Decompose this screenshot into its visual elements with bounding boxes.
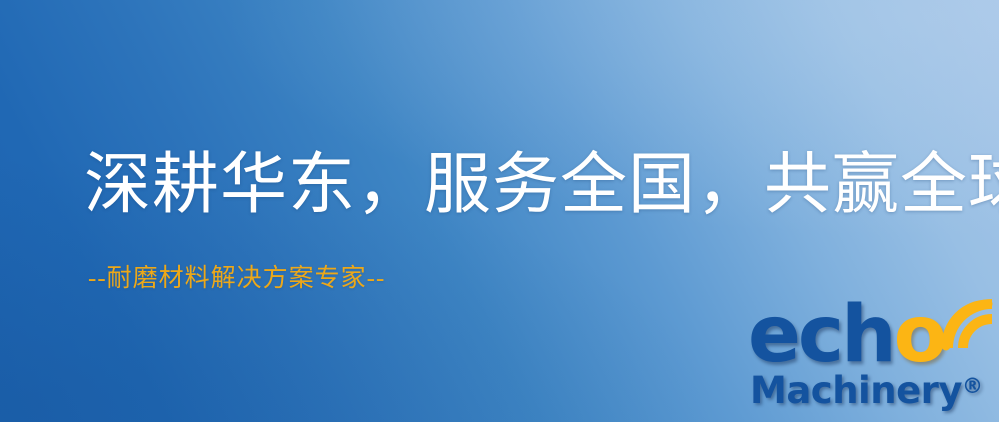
hero-banner: 深耕华东，服务全国，共赢全球 --耐磨材料解决方案专家-- echo Machi… [0,0,999,422]
registered-trademark-icon: ® [962,374,983,398]
banner-headline: 深耕华东，服务全国，共赢全球 [84,152,999,219]
banner-subtitle: --耐磨材料解决方案专家-- [88,266,385,291]
company-logo[interactable]: echo Machinery® [742,296,994,422]
logo-wordmark-prefix: ech [748,290,894,380]
logo-subtext: Machinery® [750,372,983,409]
logo-subtext-label: Machinery [750,369,962,412]
echo-wave-icon [932,290,998,356]
logo-wordmark: echo [748,296,944,374]
